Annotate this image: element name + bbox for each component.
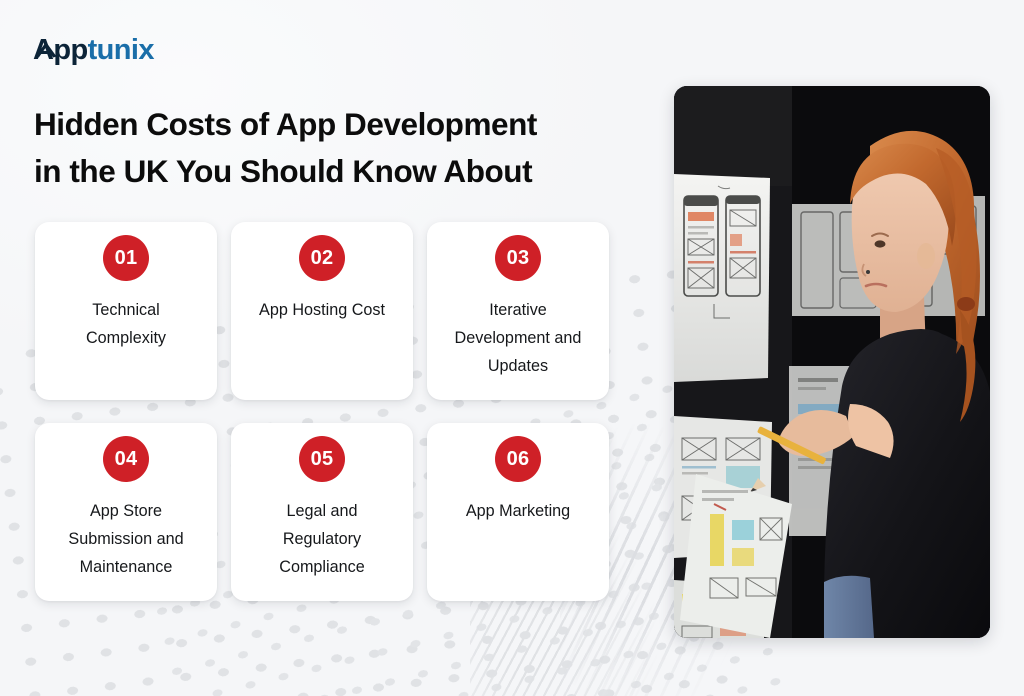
poster-canvas: Apptunix Hidden Costs of App Development… (0, 0, 1024, 696)
page-title: Hidden Costs of App Development in the U… (34, 101, 634, 194)
card-number-badge: 02 (299, 235, 345, 281)
card-label: App Store Submission and Maintenance (50, 498, 202, 582)
card-number-badge: 03 (495, 235, 541, 281)
card-label: Iterative Development and Updates (442, 297, 594, 381)
cost-card[interactable]: 04 App Store Submission and Maintenance (35, 423, 217, 601)
cost-card[interactable]: 01 Technical Complexity (35, 222, 217, 400)
cost-card[interactable]: 03 Iterative Development and Updates (427, 222, 609, 400)
card-label: App Hosting Cost (246, 297, 398, 325)
cost-card[interactable]: 02 App Hosting Cost (231, 222, 413, 400)
page-title-line-2: in the UK You Should Know About (34, 148, 634, 195)
card-label: App Marketing (442, 498, 594, 526)
card-number-badge: 01 (103, 235, 149, 281)
page-title-line-1: Hidden Costs of App Development (34, 101, 634, 148)
card-label: Legal and Regulatory Compliance (246, 498, 398, 582)
card-number-badge: 05 (299, 436, 345, 482)
card-label: Technical Complexity (50, 297, 202, 353)
cost-card[interactable]: 06 App Marketing (427, 423, 609, 601)
cost-cards-grid: 01 Technical Complexity 02 App Hosting C… (35, 222, 613, 601)
brand-logo-text-blue: tunix (88, 34, 154, 66)
brand-logo[interactable]: Apptunix (33, 27, 154, 65)
cost-card[interactable]: 05 Legal and Regulatory Compliance (231, 423, 413, 601)
ux-designer-photo (674, 86, 990, 638)
card-number-badge: 04 (103, 436, 149, 482)
card-number-badge: 06 (495, 436, 541, 482)
